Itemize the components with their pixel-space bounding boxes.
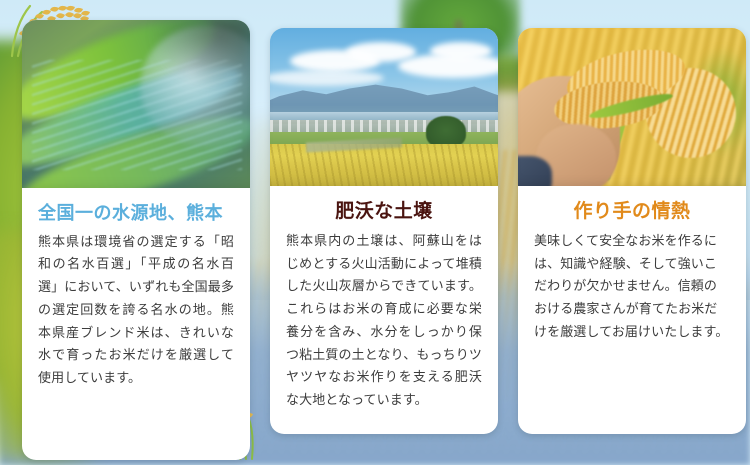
card-text: 美味しくて安全なお米を作るには、知識や経験、そして強いこだわりが欠かせません。信…	[534, 230, 730, 344]
farmer-hands-rice-photo	[518, 28, 746, 186]
aso-paddy-field-photo	[270, 28, 498, 186]
feature-card-soil[interactable]: 肥沃な土壌 熊本県内の土壌は、阿蘇山をはじめとする火山活動によって堆積した火山灰…	[270, 28, 498, 434]
card-text: 熊本県内の土壌は、阿蘇山をはじめとする火山活動によって堆積した火山灰層からできて…	[286, 230, 482, 412]
card-body: 肥沃な土壌 熊本県内の土壌は、阿蘇山をはじめとする火山活動によって堆積した火山灰…	[270, 186, 498, 424]
card-title: 全国一の水源地、熊本	[38, 202, 234, 225]
spring-water-photo	[22, 20, 250, 188]
feature-card-passion[interactable]: 作り手の情熱 美味しくて安全なお米を作るには、知識や経験、そして強いこだわりが欠…	[518, 28, 746, 434]
card-body: 全国一の水源地、熊本 熊本県は環境省の選定する「昭和の名水百選」「平成の名水百選…	[22, 188, 250, 402]
card-title: 肥沃な土壌	[286, 200, 482, 224]
feature-card-list: 全国一の水源地、熊本 熊本県は環境省の選定する「昭和の名水百選」「平成の名水百選…	[0, 0, 750, 465]
card-title: 作り手の情熱	[534, 200, 730, 224]
card-text: 熊本県は環境省の選定する「昭和の名水百選」「平成の名水百選」において、いずれも全…	[38, 231, 234, 390]
feature-card-water[interactable]: 全国一の水源地、熊本 熊本県は環境省の選定する「昭和の名水百選」「平成の名水百選…	[22, 20, 250, 460]
promo-banner: 全国一の水源地、熊本 熊本県は環境省の選定する「昭和の名水百選」「平成の名水百選…	[0, 0, 750, 465]
card-body: 作り手の情熱 美味しくて安全なお米を作るには、知識や経験、そして強いこだわりが欠…	[518, 186, 746, 356]
